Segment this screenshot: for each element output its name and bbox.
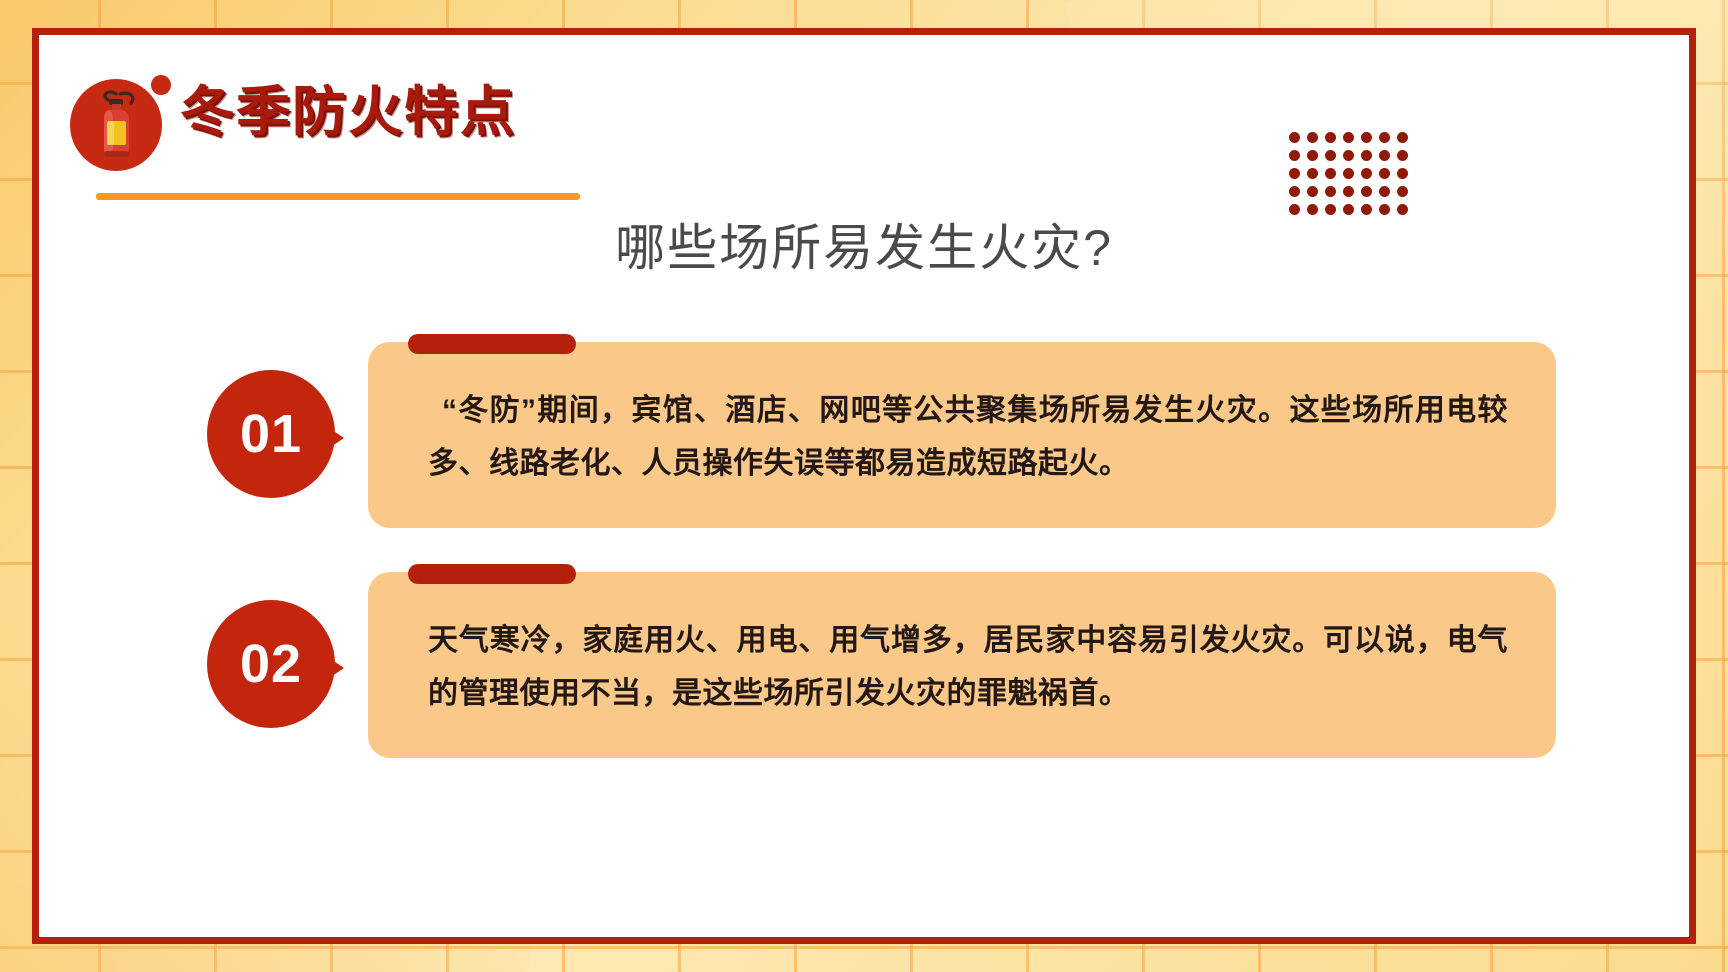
grid-dot xyxy=(1397,132,1408,143)
grid-dot xyxy=(1397,168,1408,179)
grid-dot xyxy=(1307,132,1318,143)
grid-dot xyxy=(1379,186,1390,197)
grid-dot xyxy=(1289,186,1300,197)
slide-header: 冬季防火特点 xyxy=(70,73,1630,213)
grid-dot xyxy=(1343,186,1354,197)
grid-dot xyxy=(1361,168,1372,179)
grid-dot xyxy=(1397,150,1408,161)
grid-dot xyxy=(1307,150,1318,161)
grid-dot xyxy=(1343,132,1354,143)
list-item[interactable]: 01 “冬防”期间，宾馆、酒店、网吧等公共聚集场所易发生火灾。这些场所用电较多、… xyxy=(196,336,1556,532)
grid-dot xyxy=(1325,150,1336,161)
list-item[interactable]: 02 天气寒冷，家庭用火、用电、用气增多，居民家中容易引发火灾。可以说，电气的管… xyxy=(196,566,1556,762)
grid-dot xyxy=(1307,204,1318,215)
item-card: 天气寒冷，家庭用火、用电、用气增多，居民家中容易引发火灾。可以说，电气的管理使用… xyxy=(368,572,1556,758)
grid-dot xyxy=(1307,186,1318,197)
grid-dot xyxy=(1289,132,1300,143)
grid-dot xyxy=(1343,168,1354,179)
triangle-pointer-icon xyxy=(322,423,344,453)
card-tab-accent xyxy=(408,334,576,354)
grid-dot xyxy=(1379,168,1390,179)
grid-dot xyxy=(1379,204,1390,215)
grid-dot xyxy=(1379,132,1390,143)
grid-dot xyxy=(1307,168,1318,179)
grid-dot xyxy=(1325,186,1336,197)
grid-dot xyxy=(1289,204,1300,215)
grid-dot xyxy=(1397,204,1408,215)
grid-dot xyxy=(1361,132,1372,143)
grid-dot xyxy=(1289,150,1300,161)
grid-dot xyxy=(1343,204,1354,215)
item-number-badge: 01 xyxy=(207,370,335,498)
item-card: “冬防”期间，宾馆、酒店、网吧等公共聚集场所易发生火灾。这些场所用电较多、线路老… xyxy=(368,342,1556,528)
grid-dot xyxy=(1325,168,1336,179)
header-title: 冬季防火特点 xyxy=(180,85,516,139)
card-tab-accent xyxy=(408,564,576,584)
grid-dot xyxy=(1325,204,1336,215)
page-title: 哪些场所易发生火灾? xyxy=(0,218,1728,278)
grid-dot xyxy=(1361,150,1372,161)
accent-dot xyxy=(151,75,171,95)
slide-root: 冬季防火特点 哪些场所易发生火灾? 01 “冬防”期间，宾馆、酒店、网吧等公共聚… xyxy=(0,0,1728,972)
triangle-pointer-icon xyxy=(322,653,344,683)
grid-dot xyxy=(1289,168,1300,179)
dot-grid-decoration xyxy=(1286,129,1412,219)
fire-extinguisher-icon xyxy=(90,88,142,162)
item-number-badge: 02 xyxy=(207,600,335,728)
header-underline xyxy=(96,193,580,200)
grid-dot xyxy=(1379,150,1390,161)
item-body-text: “冬防”期间，宾馆、酒店、网吧等公共聚集场所易发生火灾。这些场所用电较多、线路老… xyxy=(428,384,1508,491)
item-body-text: 天气寒冷，家庭用火、用电、用气增多，居民家中容易引发火灾。可以说，电气的管理使用… xyxy=(428,614,1508,721)
grid-dot xyxy=(1361,204,1372,215)
grid-dot xyxy=(1343,150,1354,161)
grid-dot xyxy=(1361,186,1372,197)
grid-dot xyxy=(1397,186,1408,197)
grid-dot xyxy=(1325,132,1336,143)
fire-extinguisher-badge xyxy=(70,79,162,171)
